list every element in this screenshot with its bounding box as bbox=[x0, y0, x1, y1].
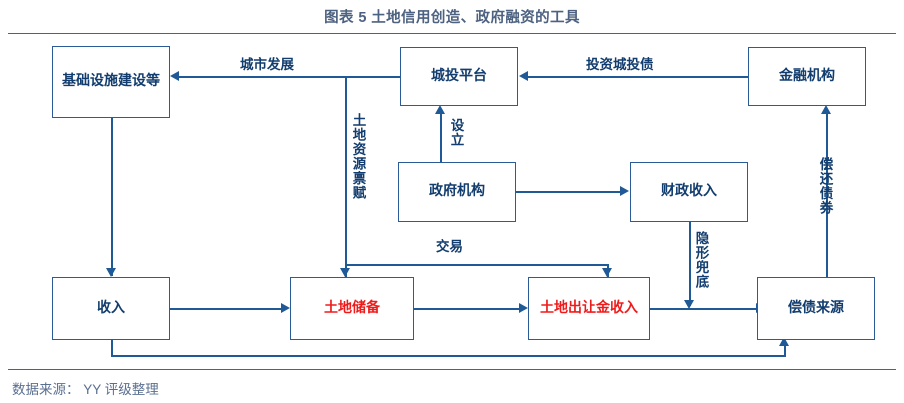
title-divider-top bbox=[8, 33, 896, 34]
node-fiscal-label: 财政收入 bbox=[661, 183, 717, 201]
edge-label-bond-investment: 投资城投债 bbox=[586, 53, 654, 73]
edge-reserve-to-landsale bbox=[413, 308, 521, 310]
arrowhead-platform-to-infra bbox=[170, 71, 179, 81]
source-divider-bottom bbox=[8, 369, 896, 370]
arrowhead-govt-to-fiscal bbox=[620, 186, 629, 196]
arrowhead-govt-to-platform bbox=[435, 105, 445, 114]
node-reserve[interactable]: 土地储备 bbox=[290, 277, 414, 340]
edge-govt-to-platform bbox=[440, 112, 442, 164]
arrowhead-infra-to-income bbox=[106, 268, 116, 277]
edge-label-urban-development: 城市发展 bbox=[240, 53, 294, 73]
edge-label-implicit-guarantee: 隐形兜底 bbox=[694, 231, 708, 311]
node-reserve-label: 土地储备 bbox=[324, 300, 380, 318]
edge-infra-to-income bbox=[111, 118, 113, 276]
edge-label-repay-bond: 偿还债券 bbox=[818, 157, 832, 237]
edge-finance-to-platform bbox=[528, 76, 748, 78]
node-infra-label: 基础设施建设等 bbox=[62, 73, 160, 91]
arrowhead-repay-to-finance bbox=[821, 105, 831, 114]
edge-fiscal-to-repay-vertical bbox=[689, 222, 691, 306]
figure-container: 图表 5 土地信用创造、政府融资的工具 基础设施建设等 bbox=[0, 0, 904, 403]
edge-income-feedback-across bbox=[111, 355, 786, 357]
node-platform-label: 城投平台 bbox=[431, 68, 487, 86]
edge-label-establish: 设立 bbox=[449, 118, 463, 158]
edge-label-land-endowment: 土地资源禀赋 bbox=[351, 113, 365, 231]
edge-endowment-trunk bbox=[345, 76, 347, 266]
figure-source: 数据来源： YY 评级整理 bbox=[12, 378, 159, 398]
node-infra[interactable]: 基础设施建设等 bbox=[52, 46, 170, 118]
edge-trade-horizontal bbox=[345, 264, 609, 266]
arrowhead-reserve-to-landsale bbox=[519, 303, 528, 313]
node-govt[interactable]: 政府机构 bbox=[398, 162, 516, 222]
arrowhead-fiscal-down bbox=[684, 300, 694, 309]
node-fiscal[interactable]: 财政收入 bbox=[630, 162, 748, 222]
figure-title: 图表 5 土地信用创造、政府融资的工具 bbox=[0, 6, 904, 27]
node-repay[interactable]: 偿债来源 bbox=[757, 277, 875, 340]
arrowhead-income-to-reserve bbox=[281, 303, 290, 313]
edge-govt-to-fiscal bbox=[516, 191, 622, 193]
arrowhead-endowment-to-reserve bbox=[340, 268, 350, 277]
node-income-label: 收入 bbox=[97, 300, 125, 318]
node-govt-label: 政府机构 bbox=[429, 183, 485, 201]
arrowhead-trade-to-landsale bbox=[602, 268, 612, 277]
node-platform[interactable]: 城投平台 bbox=[400, 47, 518, 106]
node-repay-label: 偿债来源 bbox=[788, 300, 844, 318]
node-finance[interactable]: 金融机构 bbox=[748, 47, 866, 106]
edge-label-trade: 交易 bbox=[436, 235, 463, 255]
node-landsale-label: 土地出让金收入 bbox=[540, 300, 638, 318]
edge-platform-to-infra bbox=[178, 76, 400, 78]
edge-income-to-reserve bbox=[170, 308, 282, 310]
arrowhead-finance-to-platform bbox=[519, 71, 528, 81]
node-landsale[interactable]: 土地出让金收入 bbox=[528, 277, 650, 340]
node-income[interactable]: 收入 bbox=[52, 277, 170, 340]
node-finance-label: 金融机构 bbox=[779, 68, 835, 86]
